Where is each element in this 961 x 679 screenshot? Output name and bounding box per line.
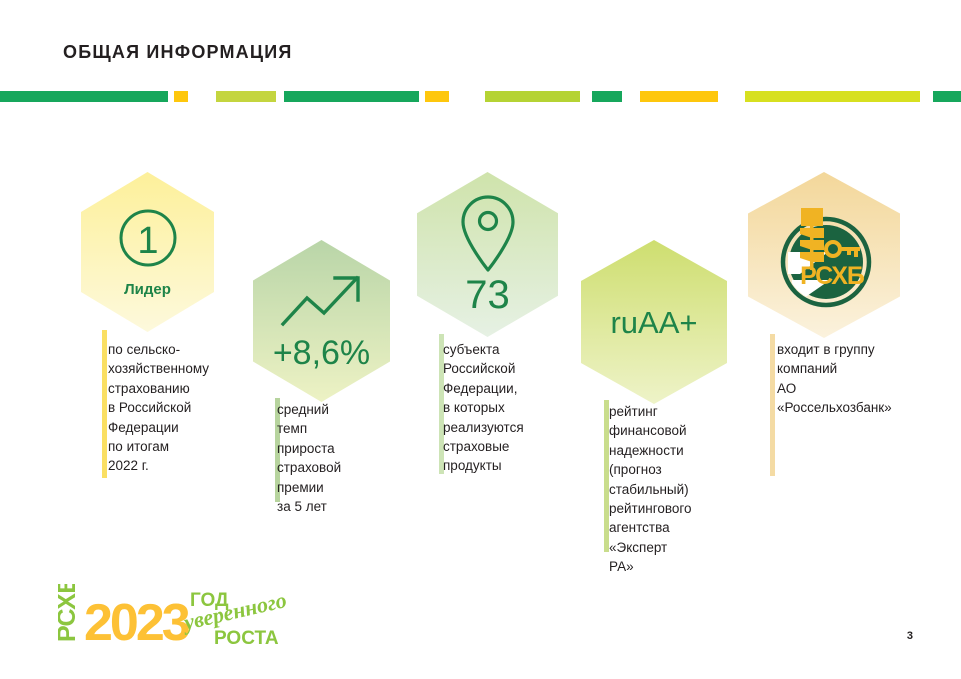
rule-segment-9 bbox=[933, 91, 961, 102]
caption-rating: рейтинг финансовой надежности (прогноз с… bbox=[609, 402, 692, 577]
caption-growth: средний темп прироста страховой премии з… bbox=[277, 400, 341, 516]
rule-segment-1 bbox=[174, 91, 188, 102]
hexagon-shape-growth: +8,6% bbox=[253, 240, 390, 402]
connector-line-group bbox=[770, 334, 775, 476]
hexagon-value-regions: 73 bbox=[465, 275, 510, 315]
decorative-rule-bar bbox=[0, 91, 961, 102]
rule-segment-5 bbox=[485, 91, 580, 102]
hexagon-shape-regions: 73 bbox=[417, 172, 558, 337]
connector-line-leader bbox=[102, 330, 107, 478]
caption-leader: по сельско- хозяйственному страхованию в… bbox=[108, 340, 209, 476]
hexagon-content-growth: +8,6% bbox=[253, 240, 390, 402]
brand-logo-svg: РСХБ 2023 ГОД уверенного РОСТА bbox=[58, 584, 290, 646]
map-pin-icon bbox=[457, 195, 519, 273]
hexagon-content-rating: ruAA+ bbox=[581, 240, 727, 404]
brand-logo-2023: РСХБ 2023 ГОД уверенного РОСТА bbox=[58, 584, 290, 646]
rshb-logo-icon: РСХБ bbox=[770, 200, 878, 310]
hexagon-shape-rating: ruAA+ bbox=[581, 240, 727, 404]
svg-text:РСХБ: РСХБ bbox=[800, 262, 865, 290]
caption-regions: субъекта Российской Федерации, в которых… bbox=[443, 340, 524, 476]
hexagon-content-regions: 73 bbox=[417, 172, 558, 337]
rule-segment-8 bbox=[745, 91, 920, 102]
hexagon-shape-group: РСХБ bbox=[748, 172, 900, 338]
logo-year-text: 2023 bbox=[84, 594, 190, 646]
hexagon-label-leader: Лидер bbox=[124, 281, 171, 298]
circled-one-icon: 1 bbox=[117, 207, 179, 269]
slide-root: ОБЩАЯ ИНФОРМАЦИЯ 1Лидерпо сельско- хозяй… bbox=[0, 0, 961, 679]
hexagon-shape-leader: 1Лидер bbox=[81, 172, 214, 332]
hexagon-value-rating: ruAA+ bbox=[610, 307, 697, 338]
rule-segment-2 bbox=[216, 91, 276, 102]
rule-segment-0 bbox=[0, 91, 168, 102]
hexagon-content-group: РСХБ bbox=[748, 172, 900, 338]
page-title: ОБЩАЯ ИНФОРМАЦИЯ bbox=[63, 42, 293, 63]
logo-word-bottom-text: РОСТА bbox=[214, 628, 279, 646]
rule-segment-7 bbox=[640, 91, 718, 102]
hexagon-content-leader: 1Лидер bbox=[81, 172, 214, 332]
hexagon-value-growth: +8,6% bbox=[273, 336, 370, 370]
svg-text:1: 1 bbox=[137, 220, 158, 262]
page-number: 3 bbox=[907, 630, 913, 642]
caption-group: входит в группу компаний АО «Россельхозб… bbox=[777, 340, 892, 418]
rule-segment-4 bbox=[425, 91, 449, 102]
rule-segment-3 bbox=[284, 91, 419, 102]
rule-segment-6 bbox=[592, 91, 622, 102]
logo-abbr-text: РСХБ bbox=[58, 584, 81, 642]
trend-up-arrow-icon bbox=[279, 272, 365, 328]
